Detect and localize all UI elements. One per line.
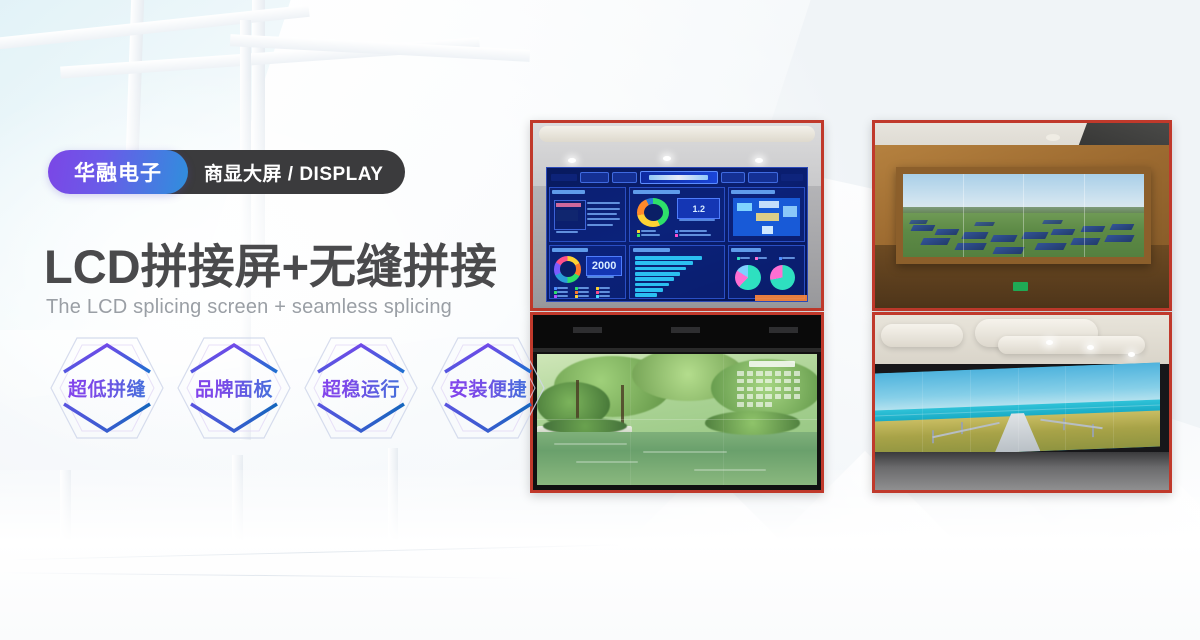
brand-tag-row: 华融电子 商显大屏 / DISPLAY	[48, 150, 405, 194]
page-title: LCD拼接屏+无缝拼接	[44, 228, 497, 297]
feature-badge-row: 超低拼缝 品牌面板 超稳运行	[48, 332, 547, 444]
feature-badge: 安装便捷	[429, 332, 547, 444]
feature-badge: 超稳运行	[302, 332, 420, 444]
feature-badge-label: 品牌面板	[175, 375, 293, 402]
video-wall-screen	[903, 174, 1145, 256]
product-photo-willow-lake-video-wall	[530, 312, 824, 493]
page-subtitle: The LCD splicing screen + seamless splic…	[46, 296, 452, 319]
feature-badge-label: 安装便捷	[429, 375, 547, 402]
feature-badge-label: 超低拼缝	[48, 375, 166, 402]
dashboard-screen: 1.2	[546, 167, 808, 302]
product-photo-solar-farm-video-wall	[872, 120, 1172, 311]
feature-badge: 品牌面板	[175, 332, 293, 444]
product-photo-beach-boardwalk-video-wall	[872, 312, 1172, 493]
video-wall-screen	[875, 362, 1160, 457]
feature-badge-label: 超稳运行	[302, 375, 420, 402]
brand-name-pill: 华融电子	[48, 150, 188, 194]
video-wall-screen	[537, 354, 816, 485]
calendar-overlay	[736, 361, 809, 414]
product-photo-dashboard-video-wall: 1.2	[530, 120, 824, 311]
feature-badge: 超低拼缝	[48, 332, 166, 444]
promo-banner: 华融电子 商显大屏 / DISPLAY LCD拼接屏+无缝拼接 The LCD …	[0, 0, 1200, 640]
